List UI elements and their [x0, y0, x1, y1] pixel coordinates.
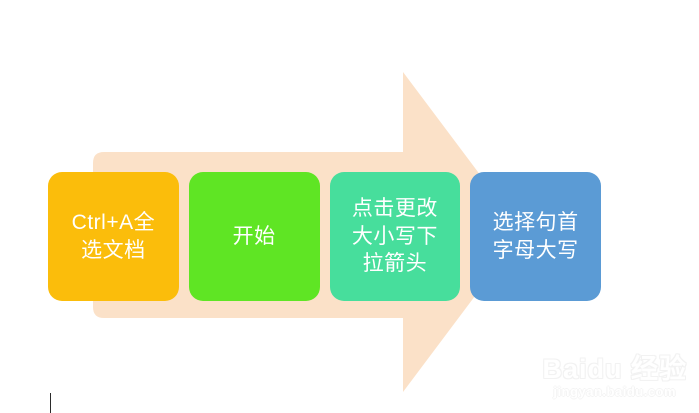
text-caret	[50, 393, 51, 413]
step-box-1-label: Ctrl+A全 选文档	[72, 209, 155, 264]
steps-row: Ctrl+A全 选文档 开始 点击更改 大小写下 拉箭头 选择句首 字母大写	[48, 172, 601, 301]
step-box-3-label: 点击更改 大小写下 拉箭头	[352, 195, 438, 278]
step-box-4-label: 选择句首 字母大写	[493, 209, 579, 264]
step-box-4[interactable]: 选择句首 字母大写	[470, 172, 601, 301]
step-box-3[interactable]: 点击更改 大小写下 拉箭头	[330, 172, 461, 301]
step-box-2-label: 开始	[233, 223, 276, 251]
diagram-canvas: Ctrl+A全 选文档 开始 点击更改 大小写下 拉箭头 选择句首 字母大写 B…	[0, 0, 699, 413]
step-box-1[interactable]: Ctrl+A全 选文档	[48, 172, 179, 301]
step-box-2[interactable]: 开始	[189, 172, 320, 301]
